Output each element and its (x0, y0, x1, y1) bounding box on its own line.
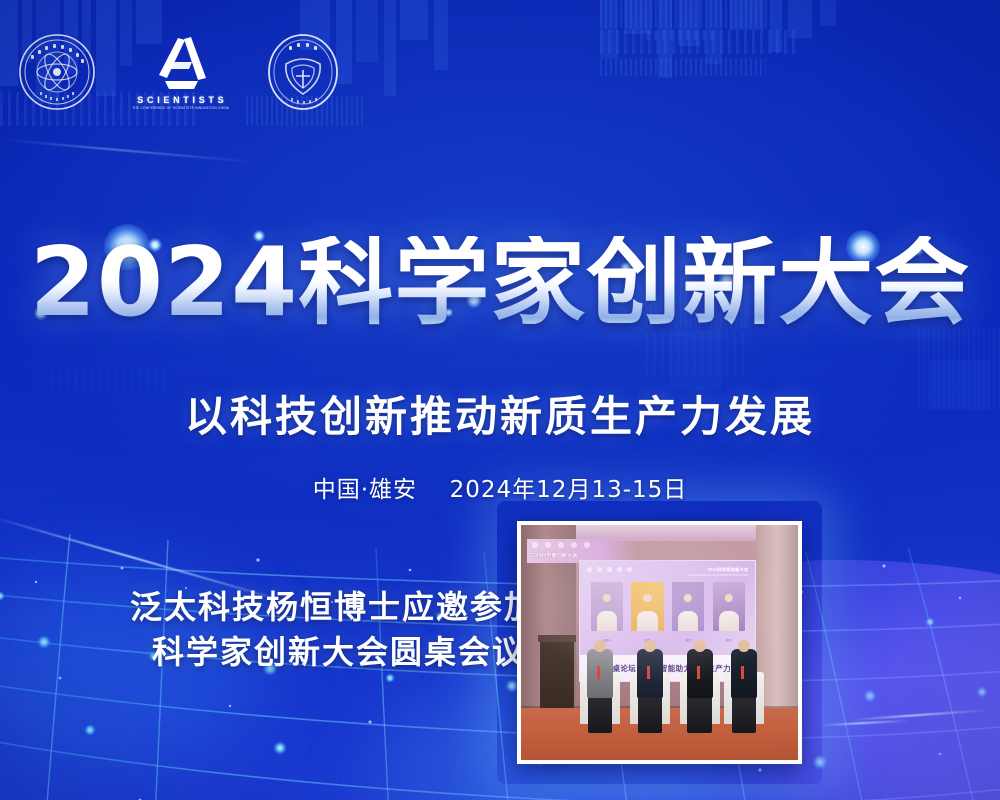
banner-icon-1 (532, 542, 538, 548)
banner-icon-5 (584, 542, 590, 548)
logo-host-seal (266, 32, 340, 112)
panelist-legs (732, 696, 756, 734)
screen-icon-5 (627, 567, 632, 572)
photo-banner-icons (532, 542, 590, 548)
logo-tagline: THE CONFERENCE OF SCIENTISTS INNOVATION … (132, 106, 229, 110)
caption-line-1: 泛太科技杨恒博士应邀参加 (130, 588, 538, 626)
conference-poster: S C I E N T I S T S THE CONFERENCE OF SC… (0, 0, 1000, 800)
panelist-legs (638, 696, 662, 734)
photo-inner: 2024科学家创新大会 2024科学家创新大会 THE CONFERENCE O… (521, 525, 798, 760)
page-title: 2024科学家创新大会 (30, 236, 970, 331)
screen-title: 2024科学家创新大会 (708, 567, 749, 573)
light-streak-top (0, 139, 259, 163)
panelist-badge (697, 666, 700, 679)
caption-block: 泛太科技杨恒博士应邀参加 科学家创新大会圆桌会议 (130, 585, 538, 676)
banner-icon-3 (558, 542, 564, 548)
photo-podium (540, 638, 573, 709)
panelist-torso (731, 649, 757, 698)
triangle-a-icon (148, 34, 214, 94)
panelist-badge (647, 666, 650, 679)
panelist-legs (588, 696, 612, 734)
panelist-legs (687, 696, 711, 734)
panelist-badge (597, 666, 600, 679)
event-location: 中国·雄安 (313, 477, 417, 503)
screen-icon-2 (597, 567, 602, 572)
panelist-torso (637, 649, 663, 698)
logo-row: S C I E N T I S T S THE CONFERENCE OF SC… (18, 32, 340, 112)
panelist-badge (741, 666, 744, 679)
oval-seal-icon (266, 32, 340, 112)
subtitle: 以科技创新推动新质生产力发展 (0, 383, 1000, 444)
banner-icon-4 (571, 542, 577, 548)
banner-icon-2 (545, 542, 551, 548)
circular-seal-icon (18, 33, 96, 111)
photo-panelist (726, 626, 762, 720)
logo-wordmark: S C I E N T I S T S (137, 96, 224, 105)
caption-line-2: 科学家创新大会圆桌会议 (130, 630, 538, 675)
light-streak-right (850, 709, 990, 721)
logo-cast-seal (18, 33, 96, 111)
panelist-torso (687, 649, 713, 698)
screen-icon-3 (607, 567, 612, 572)
screen-icon-4 (617, 567, 622, 572)
logo-scientists-conference: S C I E N T I S T S THE CONFERENCE OF SC… (128, 34, 234, 109)
headline-block: 2024科学家创新大会 (0, 236, 1000, 331)
photo-panelist (632, 626, 668, 720)
screen-subtitle: THE CONFERENCE OF SCIENTISTS INNOVATION (688, 574, 749, 577)
light-streak-right-2 (820, 720, 910, 727)
screen-icon-row (587, 567, 632, 572)
roundtable-panel-photo[interactable]: 2024科学家创新大会 2024科学家创新大会 THE CONFERENCE O… (517, 521, 802, 764)
photo-panelist (682, 626, 718, 720)
photo-banner-text: 2024科学家创新大会 (529, 552, 577, 559)
panelist-torso (587, 649, 613, 698)
photo-panelist (582, 626, 618, 720)
event-date: 2024年12月13-15日 (450, 477, 688, 503)
screen-icon-1 (587, 567, 592, 572)
event-meta: 中国·雄安 2024年12月13-15日 (0, 470, 1000, 504)
